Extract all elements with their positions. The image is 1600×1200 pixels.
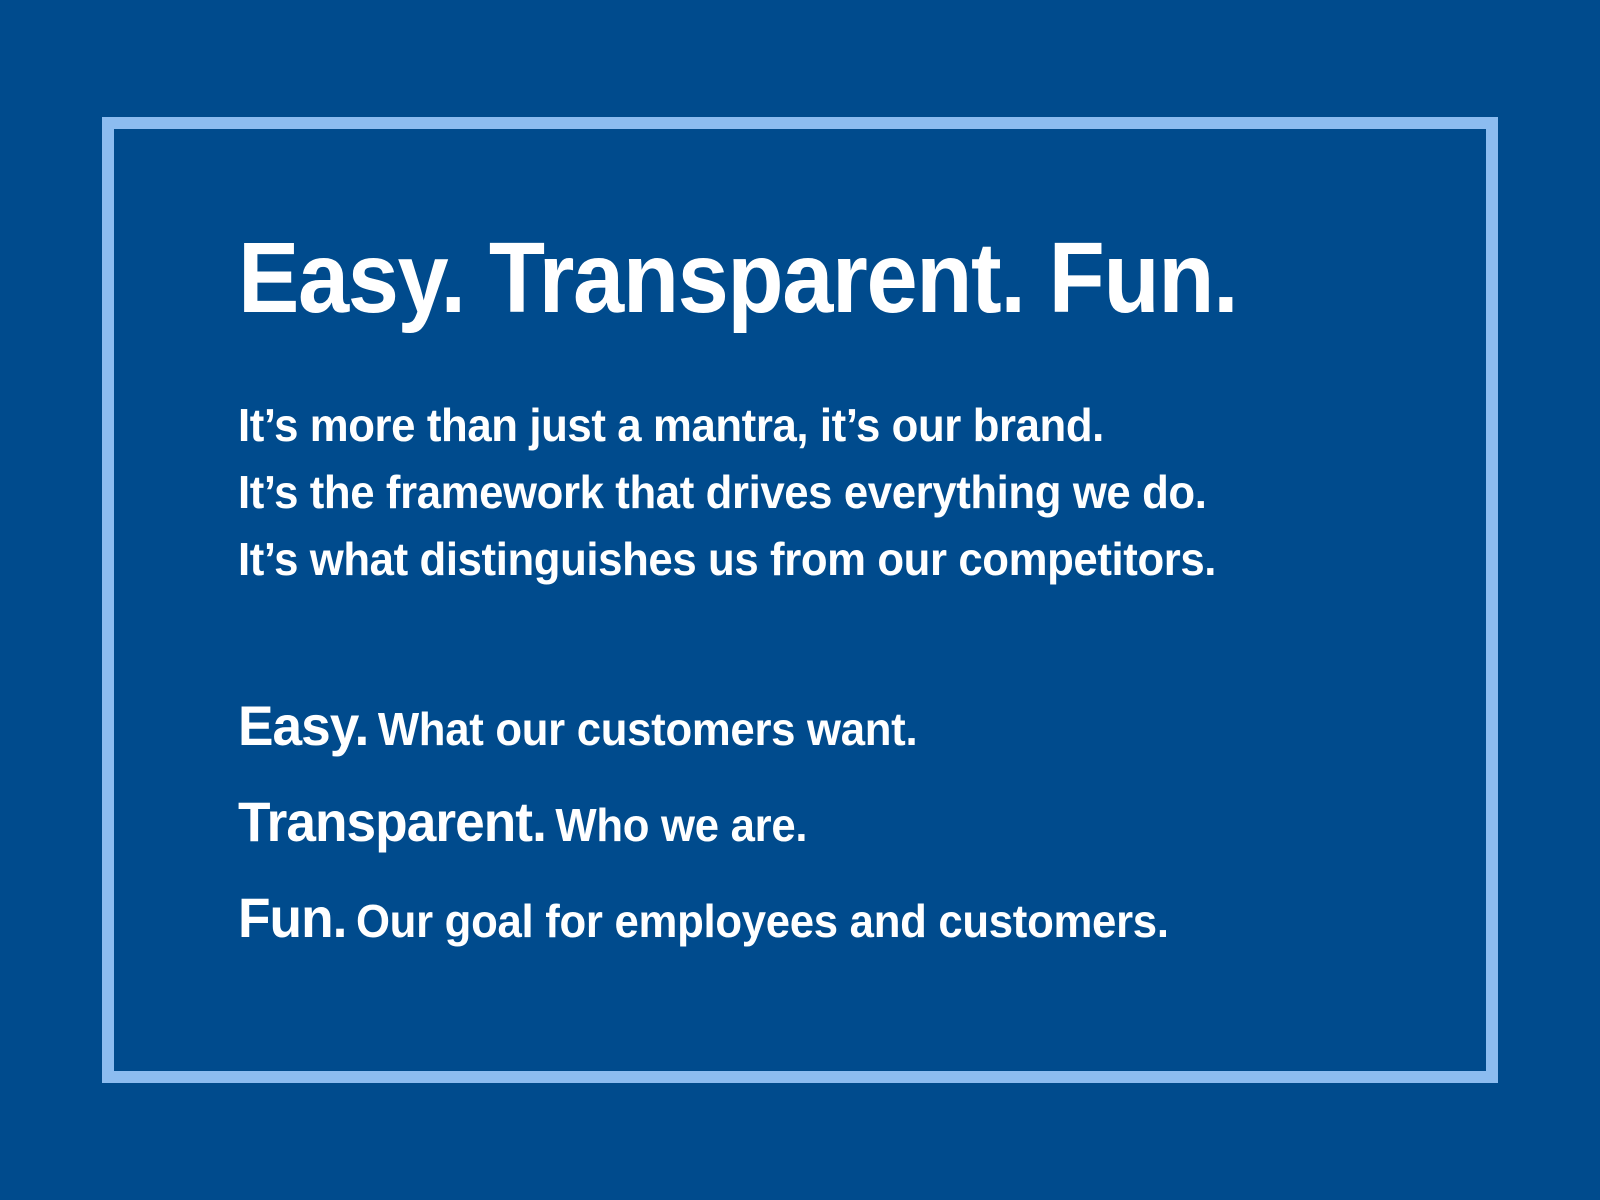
list-item: Fun.Our goal for employees and customers…: [238, 877, 1340, 973]
intro-line: It’s the framework that drives everythin…: [238, 459, 1340, 526]
intro-line: It’s what distinguishes us from our comp…: [238, 526, 1340, 593]
definition-description: What our customers want.: [378, 703, 917, 755]
definition-term: Fun.: [238, 886, 346, 949]
page-title: Easy. Transparent. Fun.: [238, 228, 1305, 328]
definition-term: Easy.: [238, 694, 368, 757]
definition-term: Transparent.: [238, 790, 546, 853]
definition-description: Our goal for employees and customers.: [356, 895, 1169, 947]
brand-mantra-slide: Easy. Transparent. Fun. It’s more than j…: [0, 0, 1600, 1200]
list-item: Easy.What our customers want.: [238, 685, 1340, 781]
slide-content: Easy. Transparent. Fun. It’s more than j…: [238, 228, 1398, 973]
intro-line: It’s more than just a mantra, it’s our b…: [238, 392, 1340, 459]
list-item: Transparent.Who we are.: [238, 781, 1340, 877]
intro-paragraph: It’s more than just a mantra, it’s our b…: [238, 392, 1398, 593]
definition-list: Easy.What our customers want. Transparen…: [238, 685, 1398, 973]
definition-description: Who we are.: [555, 799, 807, 851]
